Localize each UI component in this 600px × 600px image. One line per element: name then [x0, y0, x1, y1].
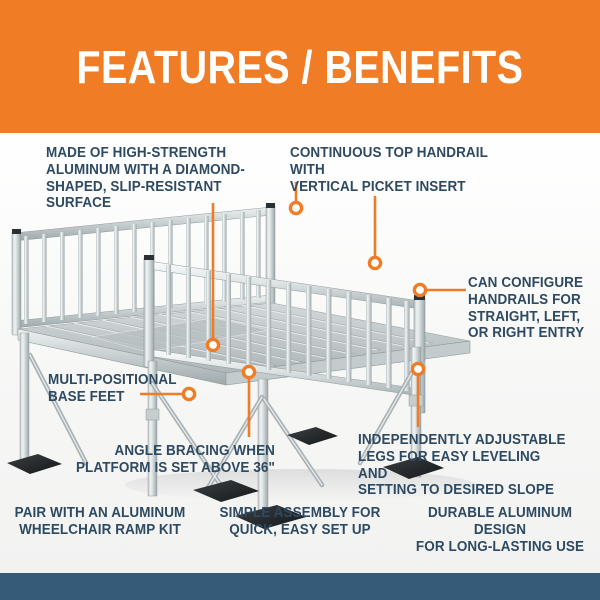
footer-item-ramp-kit: PAIR WITH AN ALUMINUM WHEELCHAIR RAMP KI…	[7, 505, 193, 539]
footer-accent-bar	[0, 573, 600, 600]
leg-adjustment-collar-right	[409, 395, 423, 406]
footer-item-durable-design: DURABLE ALUMINUM DESIGN FOR LONG-LASTING…	[407, 505, 593, 555]
leg-back-left	[20, 333, 29, 461]
callout-text-base-feet: MULTI-POSITIONAL BASE FEET	[48, 372, 186, 406]
features-benefits-infographic: FEATURES / BENEFITS	[0, 0, 600, 600]
handrail-post-back-left	[12, 231, 21, 335]
callout-text-handrail: CONTINUOUS TOP HANDRAIL WITH VERTICAL PI…	[290, 145, 521, 195]
handrail-post-front-left	[144, 257, 154, 367]
header-band: FEATURES / BENEFITS	[0, 0, 600, 133]
leg-adjustment-collar-front-left	[146, 409, 159, 420]
base-foot-back-left	[7, 454, 62, 474]
callout-text-surface: MADE OF HIGH-STRENGTH ALUMINUM WITH A DI…	[46, 145, 260, 212]
page-title: FEATURES / BENEFITS	[76, 44, 523, 90]
callout-text-configure: CAN CONFIGURE HANDRAILS FOR STRAIGHT, LE…	[468, 275, 587, 342]
footer-benefits-row: PAIR WITH AN ALUMINUM WHEELCHAIR RAMP KI…	[0, 505, 600, 573]
callout-text-angle-bracing: ANGLE BRACING WHEN PLATFORM IS SET ABOVE…	[75, 443, 275, 477]
callout-text-adjustable-legs: INDEPENDENTLY ADJUSTABLE LEGS FOR EASY L…	[358, 432, 570, 499]
footer-item-simple-assembly: SIMPLE ASSEMBLY FOR QUICK, EASY SET UP	[207, 505, 393, 539]
